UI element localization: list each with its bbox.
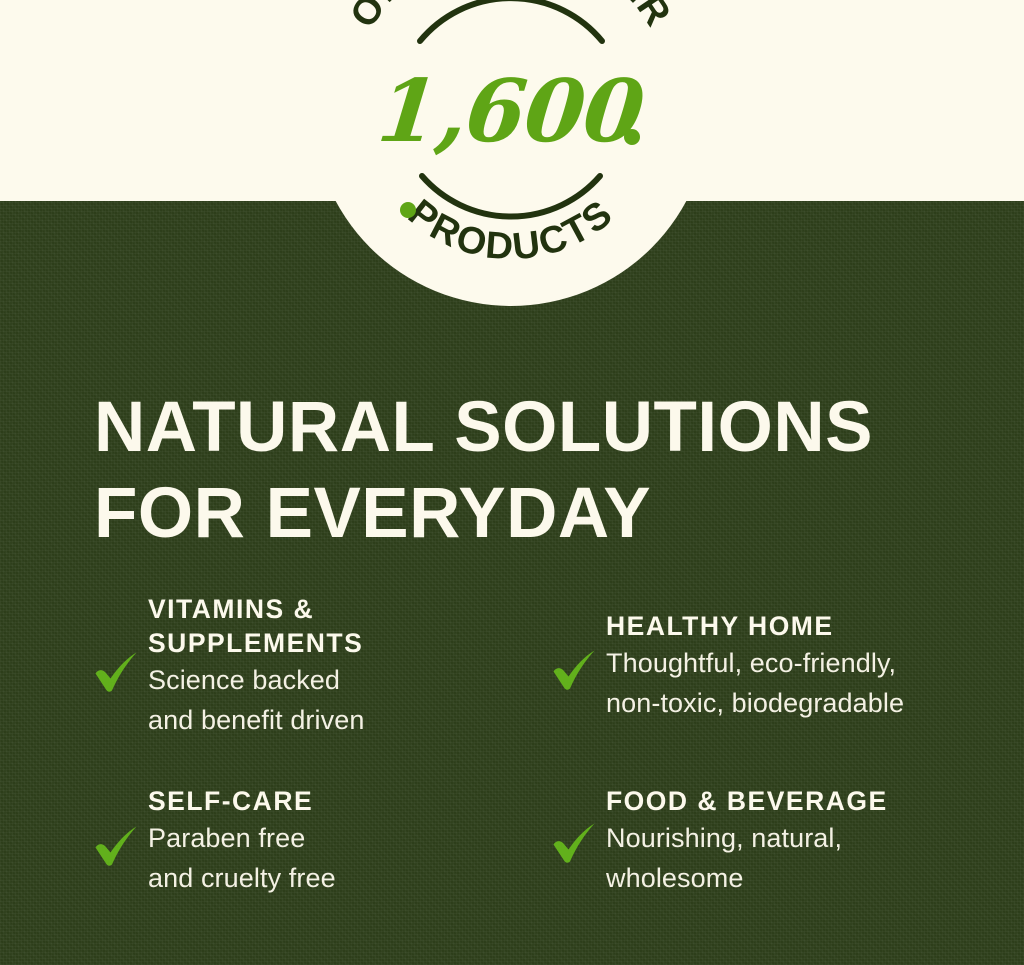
feature-desc-line-1: Thoughtful, eco-friendly, <box>606 643 904 683</box>
feature-title-line-1: SELF-CARE <box>148 786 313 816</box>
feature-item-vitamins-supplements: VITAMINS & SUPPLEMENTS Science backed an… <box>88 590 538 740</box>
feature-description: Nourishing, natural, wholesome <box>606 818 888 898</box>
feature-description: Science backed and benefit driven <box>148 660 538 740</box>
check-icon <box>88 644 144 700</box>
feature-title-line-1: VITAMINS & <box>148 594 314 624</box>
check-icon <box>546 642 602 698</box>
feature-title-line-1: HEALTHY HOME <box>606 611 834 641</box>
feature-desc-line-1: Science backed <box>148 660 538 700</box>
feature-desc-line-2: and benefit driven <box>148 700 538 740</box>
feature-title: VITAMINS & SUPPLEMENTS <box>148 592 538 660</box>
check-icon <box>88 818 144 874</box>
feature-title: FOOD & BEVERAGE <box>606 784 888 818</box>
feature-list: VITAMINS & SUPPLEMENTS Science backed an… <box>88 590 988 898</box>
feature-title-line-2: SUPPLEMENTS <box>148 628 363 658</box>
feature-description: Paraben free and cruelty free <box>148 818 336 898</box>
page-title: NATURAL SOLUTIONS FOR EVERYDAY <box>94 385 974 557</box>
headline-line-1: NATURAL SOLUTIONS <box>94 385 974 471</box>
badge-count-value: 1,600 <box>373 61 648 162</box>
feature-desc-line-2: non-toxic, biodegradable <box>606 683 904 723</box>
feature-text: FOOD & BEVERAGE Nourishing, natural, who… <box>606 782 888 898</box>
feature-item-self-care: SELF-CARE Paraben free and cruelty free <box>88 782 538 898</box>
feature-title: SELF-CARE <box>148 784 336 818</box>
check-icon <box>546 815 602 871</box>
feature-desc-line-1: Paraben free <box>148 818 336 858</box>
feature-desc-line-1: Nourishing, natural, <box>606 818 888 858</box>
headline-line-2: FOR EVERYDAY <box>94 471 974 557</box>
feature-title: HEALTHY HOME <box>606 609 904 643</box>
feature-text: SELF-CARE Paraben free and cruelty free <box>148 782 336 898</box>
promo-banner: OFFERING OVER PRODUCTS 1,600 NATURAL SOL… <box>0 0 1024 965</box>
feature-desc-line-2: and cruelty free <box>148 858 336 898</box>
badge-count-wrapper: 1,600 <box>312 0 710 306</box>
feature-text: VITAMINS & SUPPLEMENTS Science backed an… <box>148 590 538 740</box>
feature-description: Thoughtful, eco-friendly, non-toxic, bio… <box>606 643 904 723</box>
product-count-badge: OFFERING OVER PRODUCTS 1,600 <box>312 0 710 306</box>
feature-item-healthy-home: HEALTHY HOME Thoughtful, eco-friendly, n… <box>538 590 988 740</box>
feature-desc-line-2: wholesome <box>606 858 888 898</box>
feature-item-food-beverage: FOOD & BEVERAGE Nourishing, natural, who… <box>538 782 988 898</box>
feature-title-line-1: FOOD & BEVERAGE <box>606 786 888 816</box>
feature-text: HEALTHY HOME Thoughtful, eco-friendly, n… <box>606 607 904 723</box>
